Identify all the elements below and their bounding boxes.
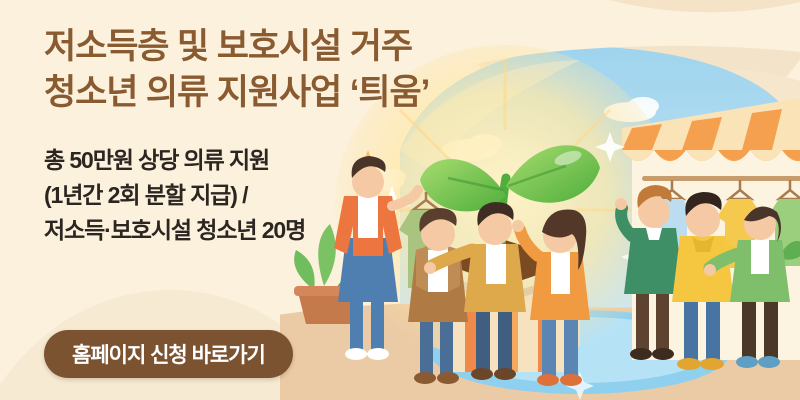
subcopy-line-1: 총 50만원 상당 의류 지원	[44, 143, 430, 178]
subcopy-line-2: (1년간 2회 분할 지급) /	[44, 178, 430, 213]
subcopy: 총 50만원 상당 의류 지원 (1년간 2회 분할 지급) / 저소득·보호시…	[44, 143, 430, 248]
subcopy-line-3: 저소득·보호시설 청소년 20명	[44, 213, 430, 248]
page-title: 저소득층 및 보호시설 거주 청소년 의류 지원사업 ‘틔움’	[44, 24, 430, 115]
headline-line-1: 저소득층 및 보호시설 거주	[44, 24, 430, 70]
headline-line-2: 청소년 의류 지원사업 ‘틔움’	[44, 70, 430, 116]
text-column: 저소득층 및 보호시설 거주 청소년 의류 지원사업 ‘틔움’ 총 50만원 상…	[0, 0, 430, 400]
promo-banner: 저소득층 및 보호시설 거주 청소년 의류 지원사업 ‘틔움’ 총 50만원 상…	[0, 0, 800, 400]
